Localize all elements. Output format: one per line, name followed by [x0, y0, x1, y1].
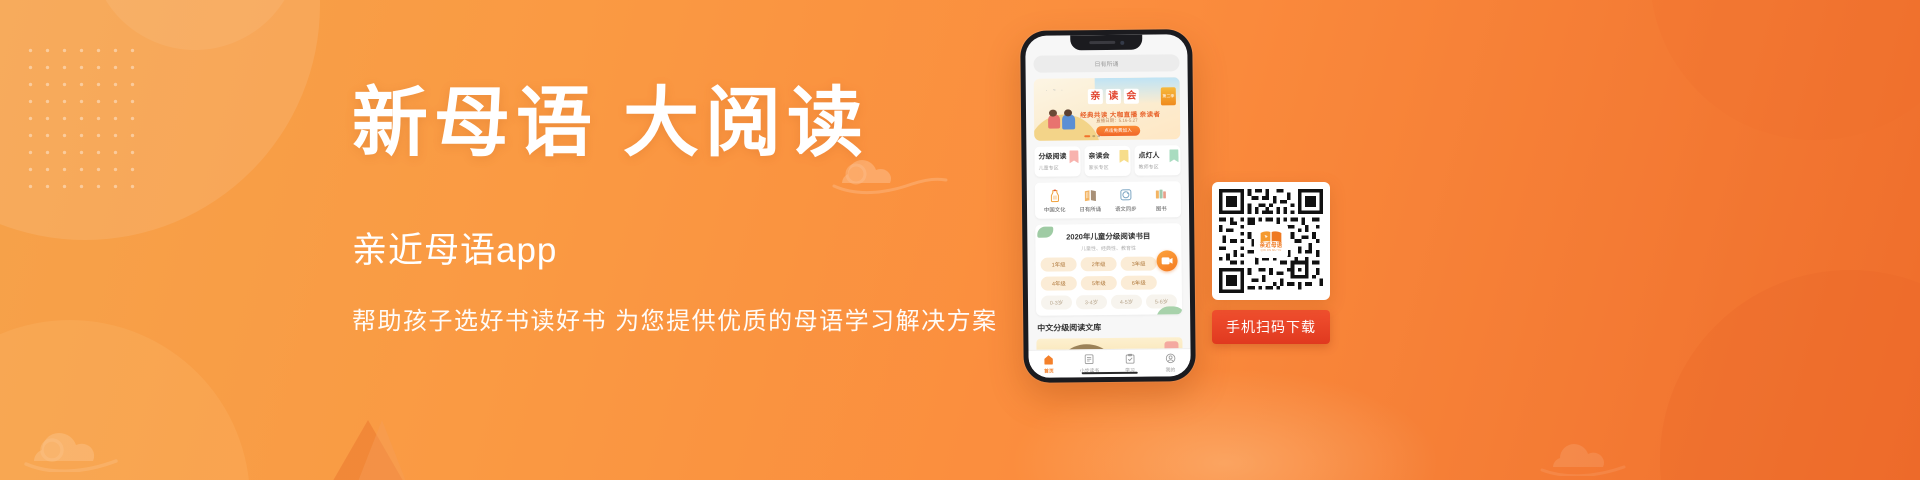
booklist-title: 2020年儿童分级阅读书目	[1040, 230, 1176, 242]
app-name: 亲近母语app	[352, 222, 1032, 273]
quick-link-chinese-culture[interactable]: 中国文化	[1037, 188, 1073, 213]
decor-circle-top-left-small	[90, 0, 300, 50]
quick-link-daily-recitation[interactable]: 日有所诵	[1072, 188, 1108, 213]
age-chip[interactable]: 3-4岁	[1076, 295, 1107, 309]
grade-chip[interactable]: 2年级	[1081, 257, 1117, 271]
grade-chip[interactable]: 4年级	[1041, 276, 1077, 290]
carousel-dot-3[interactable]	[1097, 135, 1100, 137]
decor-circle-top-right	[1650, 0, 1920, 140]
age-chip[interactable]: 0-3岁	[1041, 295, 1072, 309]
camera-icon	[1120, 40, 1124, 44]
banner-copy: 新母语 大阅读 亲近母语app 帮助孩子选好书读好书 为您提供优质的母语学习解决…	[352, 86, 1032, 336]
quick-link-label: 语文同步	[1108, 205, 1144, 213]
decor-triangle-right	[336, 420, 428, 480]
circle-arrow-icon	[1119, 188, 1133, 202]
promo-banner: 新母语 大阅读 亲近母语app 帮助孩子选好书读好书 为您提供优质的母语学习解决…	[0, 0, 1920, 480]
decor-phone-glow	[1010, 368, 1440, 480]
phone-mockup: 日有所诵 · ~ · 亲 读 会 第二季 经典共读 大咖直播 亲读者	[1020, 29, 1196, 383]
carousel-dot-2[interactable]	[1092, 135, 1095, 137]
zone-cards-row: 分级阅读 儿童专区 亲读会 家长专区 点灯人 教师专区	[1034, 145, 1180, 177]
tab-home[interactable]: 首页	[1029, 354, 1070, 374]
speaker-icon	[1089, 41, 1115, 44]
grade-chip[interactable]: 6年级	[1121, 275, 1157, 289]
tab-profile[interactable]: 我的	[1150, 353, 1191, 373]
qr-logo-pinyin: QIN JIN MU YU	[1261, 250, 1282, 253]
page-title: 新母语 大阅读	[352, 86, 1032, 164]
qr-download-block: 亲近母语 QIN JIN MU YU 手机扫码下载	[1212, 182, 1330, 344]
open-book-icon	[1260, 230, 1282, 243]
bookmark-icon	[1069, 150, 1078, 163]
hero-title-char-2: 读	[1106, 89, 1121, 104]
hero-join-button[interactable]: 点击免费加入	[1096, 126, 1140, 136]
grade-chip[interactable]: 1年级	[1041, 257, 1077, 271]
home-icon	[1043, 354, 1054, 365]
hero-date: 直播日期：5.16-5.27	[1096, 118, 1138, 124]
quick-links-row: 中国文化 日有所诵	[1035, 181, 1181, 219]
decor-triangle-left	[300, 420, 436, 480]
booklist-card[interactable]: 2020年儿童分级阅读书目 儿童性、经典性、教育性 1年级 2年级 3年级 4年…	[1035, 223, 1182, 316]
search-placeholder-label: 日有所诵	[1094, 59, 1118, 68]
vase-icon	[1048, 188, 1062, 202]
phone-notch	[1070, 35, 1142, 51]
hero-title: 亲 读 会	[1088, 89, 1139, 105]
quick-link-label: 图书	[1143, 204, 1179, 212]
tab-label: 首页	[1029, 367, 1070, 374]
phone-screen: 日有所诵 · ~ · 亲 读 会 第二季 经典共读 大咖直播 亲读者	[1025, 34, 1191, 378]
hero-season-badge: 第二季	[1161, 87, 1176, 105]
zone-card-subtitle: 教师专区	[1139, 163, 1177, 170]
app-content: 日有所诵 · ~ · 亲 读 会 第二季 经典共读 大咖直播 亲读者	[1025, 34, 1190, 361]
library-title: 中文分级阅读文库	[1036, 321, 1182, 334]
auspicious-cloud-icon-bottom-right	[1540, 426, 1670, 476]
book-stack-icon	[1083, 188, 1097, 202]
zone-card-graded-reading[interactable]: 分级阅读 儿童专区	[1034, 146, 1080, 176]
grade-chip[interactable]: 3年级	[1121, 256, 1157, 270]
zone-card-teacher[interactable]: 点灯人 教师专区	[1134, 145, 1180, 175]
hero-title-char-3: 会	[1124, 89, 1139, 104]
decor-circle-bottom-right	[1660, 270, 1920, 480]
grade-chip-row-2: 4年级 5年级 6年级	[1041, 275, 1177, 290]
grade-chip[interactable]: 5年级	[1081, 276, 1117, 290]
checklist-icon	[1124, 353, 1135, 364]
hero-banner-card[interactable]: · ~ · 亲 读 会 第二季 经典共读 大咖直播 亲读者 直播日期：5.16-…	[1034, 77, 1181, 141]
carousel-dots[interactable]	[1084, 135, 1100, 137]
zone-card-parent-club[interactable]: 亲读会 家长专区	[1084, 146, 1130, 176]
decor-circle-top-left	[0, 0, 320, 240]
zone-card-subtitle: 儿童专区	[1039, 164, 1077, 171]
age-chip[interactable]: 4-5岁	[1111, 295, 1142, 309]
hero-title-char-1: 亲	[1088, 89, 1103, 104]
quick-link-textbook-sync[interactable]: 语文同步	[1108, 188, 1144, 213]
booklist-subtitle: 儿童性、经典性、教育性	[1040, 244, 1176, 252]
auspicious-cloud-icon-bottom-left	[20, 410, 170, 472]
qr-center-logo: 亲近母语 QIN JIN MU YU	[1254, 224, 1288, 258]
quick-link-books[interactable]: 图书	[1143, 187, 1179, 212]
bookmark-icon	[1169, 149, 1178, 162]
quick-link-label: 中国文化	[1037, 205, 1073, 213]
child-illustration-2	[1062, 114, 1075, 129]
tagline: 帮助孩子选好书读好书 为您提供优质的母语学习解决方案	[352, 301, 1032, 336]
user-icon	[1165, 353, 1176, 364]
age-chip-row: 0-3岁 3-4岁 4-5岁 5-6岁	[1041, 294, 1177, 309]
play-video-icon[interactable]	[1156, 250, 1177, 271]
quick-link-label: 日有所诵	[1072, 205, 1108, 213]
search-input[interactable]: 日有所诵	[1033, 54, 1179, 73]
books-icon	[1154, 187, 1168, 201]
tab-label: 我的	[1150, 366, 1191, 373]
download-button[interactable]: 手机扫码下载	[1212, 310, 1330, 344]
decor-dot-grid	[22, 42, 142, 192]
zone-card-subtitle: 家长专区	[1089, 164, 1127, 171]
note-icon	[1084, 354, 1095, 365]
decor-circle-bottom-left	[0, 320, 250, 480]
birds-icon: · ~ ·	[1046, 87, 1065, 93]
qr-code-icon[interactable]: 亲近母语 QIN JIN MU YU	[1212, 182, 1330, 300]
carousel-dot-1[interactable]	[1084, 135, 1090, 137]
child-illustration-1	[1048, 114, 1060, 128]
bookmark-icon	[1119, 150, 1128, 163]
